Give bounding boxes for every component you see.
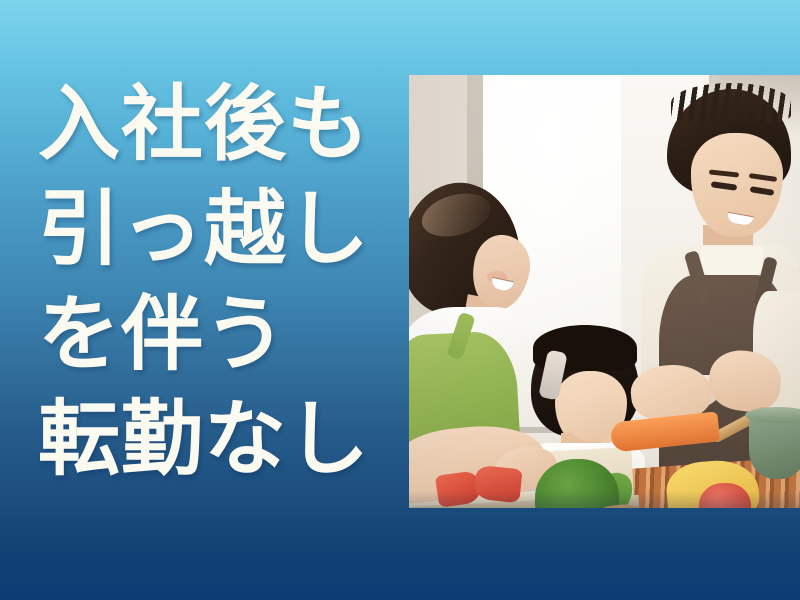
family-cooking-photo (409, 75, 800, 508)
recruitment-banner: 入社後も 引っ越し を伴う 転勤なし (0, 0, 800, 600)
photo-vignette (409, 75, 800, 508)
headline-block: 入社後も 引っ越し を伴う 転勤なし (38, 72, 398, 492)
headline-line-2: 引っ越し (38, 177, 398, 282)
headline-line-1: 入社後も (38, 72, 398, 177)
headline-line-4: 転勤なし (38, 387, 398, 492)
headline-line-3: を伴う (38, 282, 398, 387)
